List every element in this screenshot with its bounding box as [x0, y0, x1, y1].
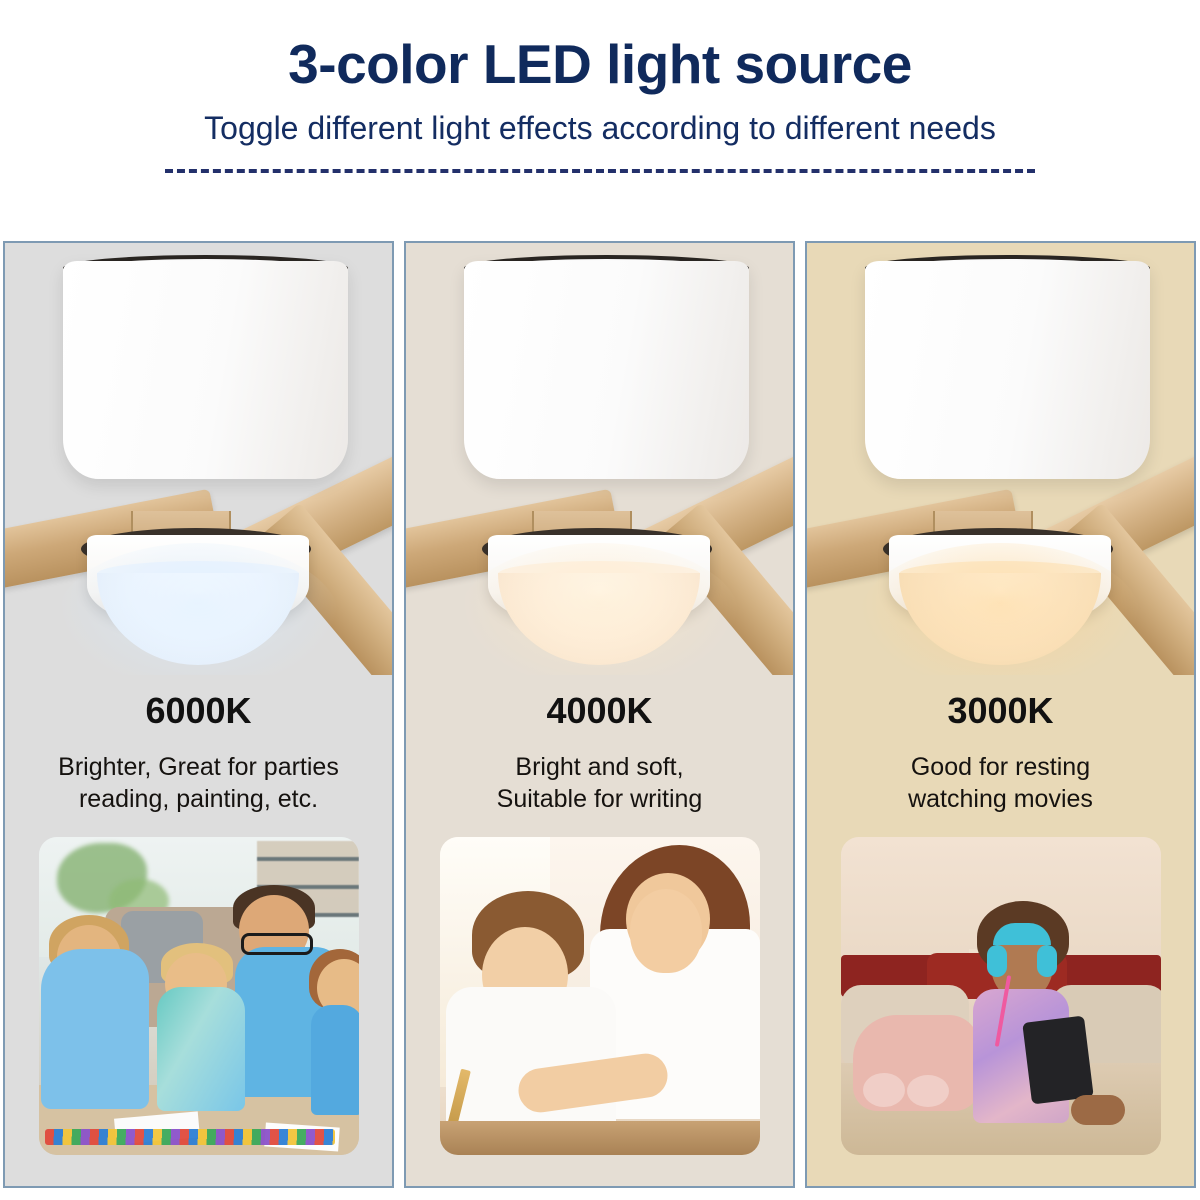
colored-pencils: [45, 1129, 335, 1145]
color-temperature-label: 4000K: [546, 693, 652, 729]
girl-feet: [1071, 1095, 1125, 1125]
color-temperature-description: Bright and soft, Suitable for writing: [483, 751, 717, 815]
light-mode-panel-6000k[interactable]: 6000K Brighter, Great for parties readin…: [3, 241, 394, 1188]
light-mode-panel-3000k[interactable]: 3000K Good for resting watching movies: [805, 241, 1196, 1188]
light-mode-panels: 6000K Brighter, Great for parties readin…: [3, 241, 1197, 1188]
light-diffuser-dome: [97, 573, 299, 665]
divider-wrapper: [0, 169, 1200, 173]
product-image-cool-white: [5, 243, 392, 675]
motor-housing: [63, 261, 348, 479]
scene-photo-girl-tablet: [841, 837, 1161, 1155]
scene-photo-boy-writing: [440, 837, 760, 1155]
header: 3-color LED light source Toggle differen…: [0, 0, 1200, 173]
mother-face: [630, 889, 702, 973]
desk: [440, 1121, 760, 1155]
product-image-warm-white: [807, 243, 1194, 675]
tablet-device: [1022, 1016, 1094, 1105]
teddy-bear-paw-left: [863, 1073, 905, 1107]
scene-photo-family-drawing: [39, 837, 359, 1155]
teddy-bear-paw-right: [907, 1075, 949, 1107]
motor-housing: [464, 261, 749, 479]
glasses-icon: [241, 933, 313, 955]
color-temperature-label: 3000K: [947, 693, 1053, 729]
product-image-neutral-white: [406, 243, 793, 675]
color-temperature-description: Good for resting watching movies: [894, 751, 1107, 815]
headphones-cup-left-icon: [987, 945, 1007, 977]
light-diffuser-dome: [498, 573, 700, 665]
page-subtitle: Toggle different light effects according…: [0, 110, 1200, 147]
dashed-divider: [165, 169, 1035, 173]
headphones-cup-right-icon: [1037, 945, 1057, 977]
light-mode-panel-4000k[interactable]: 4000K Bright and soft, Suitable for writ…: [404, 241, 795, 1188]
color-temperature-label: 6000K: [145, 693, 251, 729]
light-diffuser-dome: [899, 573, 1101, 665]
boy-body: [157, 987, 245, 1111]
page-title: 3-color LED light source: [0, 36, 1200, 94]
headphones-band-icon: [993, 923, 1051, 945]
girl-body: [311, 1005, 359, 1115]
mother-body: [41, 949, 149, 1109]
motor-housing: [865, 261, 1150, 479]
color-temperature-description: Brighter, Great for parties reading, pai…: [44, 751, 353, 815]
